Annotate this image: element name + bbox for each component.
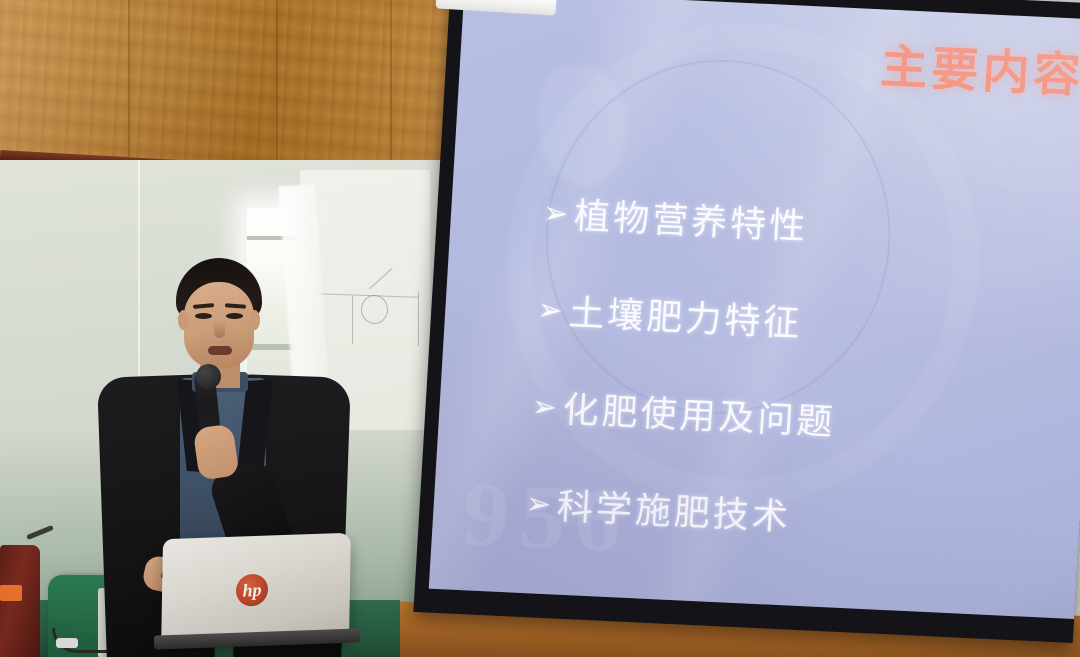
- slide-bullet-item: ➢ 化肥使用及问题: [530, 379, 837, 445]
- slide-bullet-list: ➢ 植物营养特性 ➢ 土壤肥力特征 ➢ 化肥使用及问题 ➢ 科学施肥技术: [525, 186, 849, 543]
- bullet-arrow-icon: ➢: [542, 199, 569, 230]
- eye: [226, 313, 243, 319]
- eye: [195, 313, 212, 319]
- bag-label: [0, 585, 22, 601]
- equipment-bag: [0, 545, 40, 657]
- projection-screen: 956 主要内容 ➢ 植物营养特性 ➢ 土壤肥力特征 ➢ 化肥使用及问题 ➢: [413, 0, 1080, 643]
- ear: [249, 310, 260, 330]
- whiteboard-mark: [418, 292, 419, 346]
- cable-connector: [56, 638, 78, 648]
- presentation-photo-scene: 956 主要内容 ➢ 植物营养特性 ➢ 土壤肥力特征 ➢ 化肥使用及问题 ➢: [0, 0, 1080, 657]
- slide-bullet-item: ➢ 土壤肥力特征: [536, 282, 843, 348]
- mouth: [208, 346, 232, 355]
- bullet-arrow-icon: ➢: [525, 489, 552, 520]
- slide-title: 主要内容: [879, 27, 1080, 105]
- ear: [178, 310, 189, 330]
- slide-surface: 956 主要内容 ➢ 植物营养特性 ➢ 土壤肥力特征 ➢ 化肥使用及问题 ➢: [429, 0, 1080, 619]
- slide-bullet-text: 土壤肥力特征: [567, 284, 804, 347]
- bullet-arrow-icon: ➢: [531, 392, 558, 423]
- hp-logo-icon: hp: [236, 573, 269, 607]
- nose: [214, 320, 225, 338]
- bullet-arrow-icon: ➢: [537, 295, 564, 326]
- slide-bullet-text: 化肥使用及问题: [561, 381, 837, 446]
- slide-bullet-text: 科学施肥技术: [556, 478, 793, 541]
- wood-paneling: [0, 0, 480, 160]
- slide-bullet-text: 植物营养特性: [573, 187, 810, 250]
- laptop: hp: [162, 536, 350, 644]
